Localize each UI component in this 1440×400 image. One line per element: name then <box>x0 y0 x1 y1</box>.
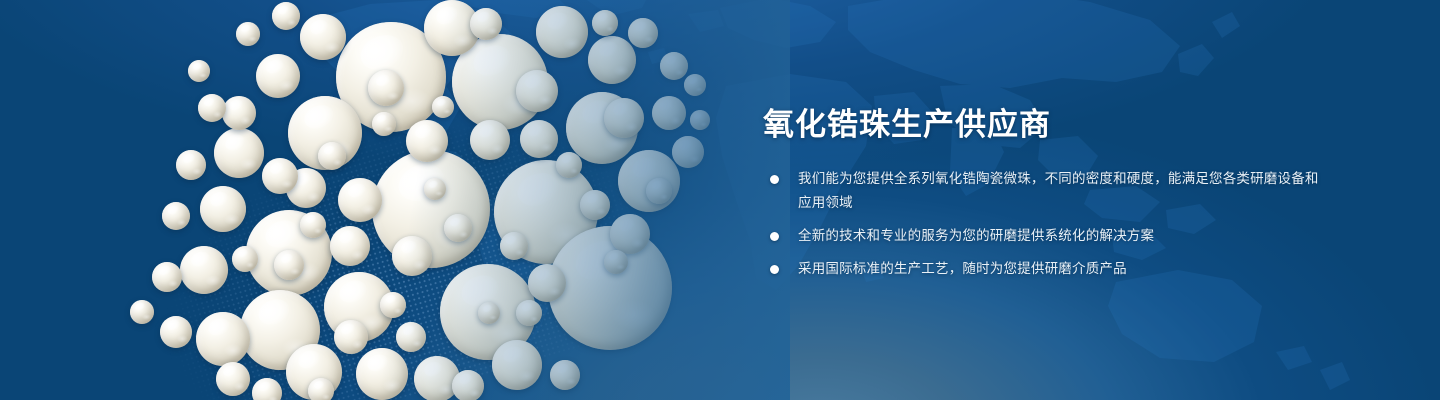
bullet-item: 我们能为您提供全系列氧化锆陶瓷微珠，不同的密度和硬度，能满足您各类研磨设备和应用… <box>763 167 1323 215</box>
bullet-text: 采用国际标准的生产工艺，随时为您提供研磨介质产品 <box>798 257 1323 281</box>
bullet-text: 我们能为您提供全系列氧化锆陶瓷微珠，不同的密度和硬度，能满足您各类研磨设备和应用… <box>798 167 1323 215</box>
hero-banner: 氧化锆珠生产供应商 我们能为您提供全系列氧化锆陶瓷微珠，不同的密度和硬度，能满足… <box>0 0 1440 400</box>
bullet-item: 全新的技术和专业的服务为您的研磨提供系统化的解决方案 <box>763 224 1323 248</box>
bullet-text: 全新的技术和专业的服务为您的研磨提供系统化的解决方案 <box>798 224 1323 248</box>
banner-bullet-list: 我们能为您提供全系列氧化锆陶瓷微珠，不同的密度和硬度，能满足您各类研磨设备和应用… <box>763 167 1323 281</box>
bullet-dot-icon <box>770 232 779 241</box>
banner-headline: 氧化锆珠生产供应商 <box>763 104 1323 146</box>
bullet-dot-icon <box>770 265 779 274</box>
bullet-dot-icon <box>770 175 779 184</box>
bullet-item: 采用国际标准的生产工艺，随时为您提供研磨介质产品 <box>763 257 1323 281</box>
banner-content: 氧化锆珠生产供应商 我们能为您提供全系列氧化锆陶瓷微珠，不同的密度和硬度，能满足… <box>763 104 1323 281</box>
zirconia-beads-photo <box>0 0 760 400</box>
